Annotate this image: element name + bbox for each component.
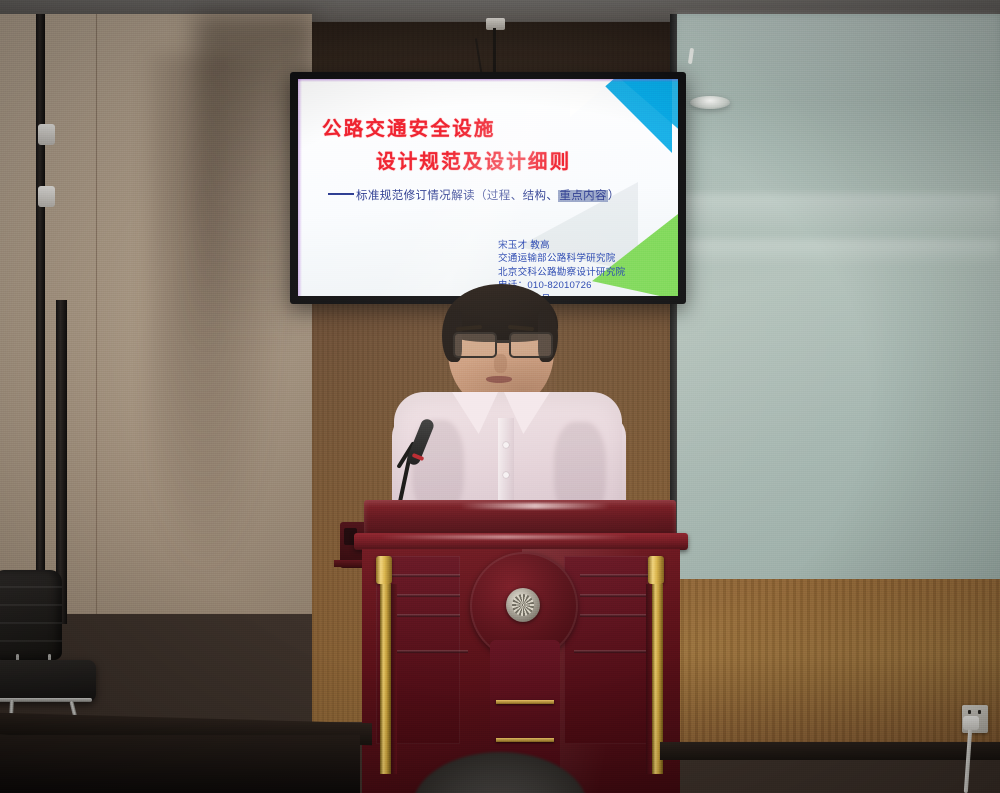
subtitle-main-text: 标准规范修订情况解读（过程、结构、 [356, 190, 558, 202]
presentation-slide: 公路交通安全设施 设计规范及设计细则 标准规范修订情况解读（过程、结构、重点内容… [298, 79, 678, 296]
glass-sheen-3 [676, 14, 1000, 104]
slide-title-line-1: 公路交通安全设施 [322, 112, 496, 141]
podium-column-left-shadow [391, 584, 397, 774]
shirt-button [503, 472, 509, 478]
outlet-socket-holes [968, 710, 982, 714]
chair-backrest [0, 570, 62, 660]
subtitle-dash-icon [328, 193, 354, 195]
podium-emblem-icon [512, 594, 534, 616]
baseboard-right [660, 742, 1000, 760]
shirt-button [503, 442, 509, 448]
podium-column-capital-right [648, 556, 664, 584]
speaker-mouth [486, 376, 512, 383]
wood-grain-right [660, 560, 1000, 750]
podium-groove [580, 574, 648, 577]
glasses-icon [450, 332, 554, 356]
power-plug[interactable] [963, 716, 979, 730]
chair-rib [0, 586, 62, 588]
podium-groove [392, 574, 460, 577]
podium-pillar-gold-band [496, 738, 554, 742]
wall-light-icon [690, 96, 730, 109]
podium-pillar-gold-band [496, 700, 554, 704]
slide-subtitle: 标准规范修订情况解读（过程、结构、重点内容） [328, 187, 620, 203]
slide-decoration-cyan-inner [598, 79, 672, 153]
wall-panel-seam [96, 14, 97, 614]
podium-groove [392, 594, 460, 597]
wall-trim-knob-lower [38, 186, 55, 207]
glasses-bridge [495, 340, 511, 343]
podium [340, 500, 700, 793]
podium-groove [392, 614, 460, 617]
podium-groove [580, 614, 648, 617]
glass-sheen-2 [676, 240, 1000, 266]
screen-edge-tint-top [298, 79, 678, 82]
left-wall-panel [0, 14, 312, 614]
subtitle-suffix-text: ） [608, 190, 620, 202]
screen-surface: 公路交通安全设施 设计规范及设计细则 标准规范修订情况解读（过程、结构、重点内容… [298, 79, 678, 296]
chair-seat [0, 660, 96, 702]
podium-column-capital-left [376, 556, 392, 584]
floor [0, 735, 360, 793]
speaker-nose [494, 354, 507, 373]
speaker-info-line-2: 北京交科公路勘察设计研究院 [498, 266, 625, 279]
podium-column-left [380, 584, 391, 774]
subtitle-highlight-text: 重点内容 [558, 190, 608, 202]
podium-lip-highlight [380, 535, 630, 539]
chair-rib [0, 622, 62, 624]
glass-sheen-1 [676, 194, 1000, 232]
podium-column-right-shadow [646, 584, 652, 774]
wall-trim-knob [38, 124, 55, 145]
wood-wall-right [660, 560, 1000, 750]
podium-top-highlight [460, 503, 610, 509]
wall-trim-strip [36, 14, 45, 624]
glasses-lens-right [509, 332, 553, 358]
chair-rib [0, 604, 62, 606]
glasses-lens-left [453, 332, 497, 358]
speaker-figure [386, 284, 636, 534]
display-screen[interactable]: 公路交通安全设施 设计规范及设计细则 标准规范修订情况解读（过程、结构、重点内容… [290, 72, 686, 304]
screen-edge-tint-left [298, 79, 302, 296]
slide-title-line-2: 设计规范及设计细则 [376, 145, 571, 174]
speaker-info-line-1: 交通运输部公路科学研究院 [498, 252, 625, 265]
chair-rib [0, 640, 62, 642]
conference-room-photo: 公路交通安全设施 设计规范及设计细则 标准规范修订情况解读（过程、结构、重点内容… [0, 0, 1000, 793]
podium-groove [580, 594, 648, 597]
speaker-info-line-0: 宋玉才 教高 [498, 239, 625, 252]
